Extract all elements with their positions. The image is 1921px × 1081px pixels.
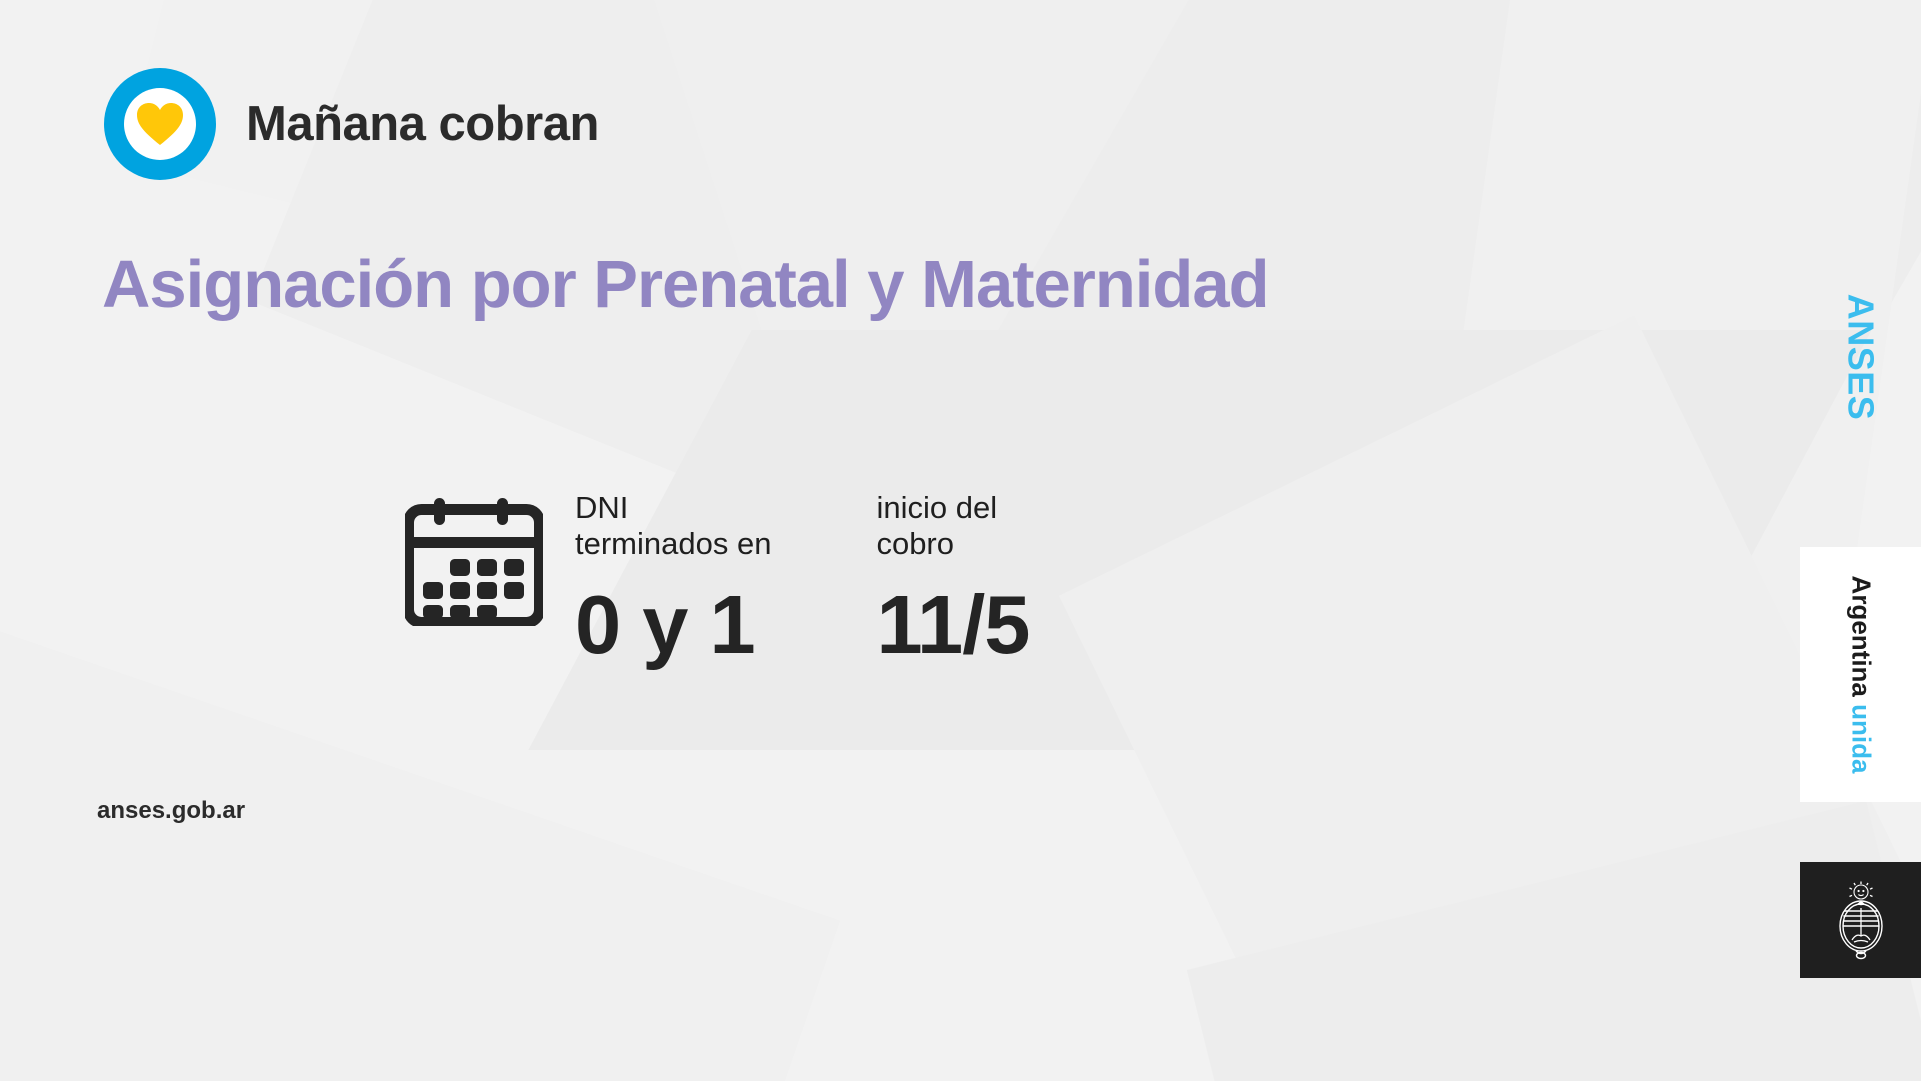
fecha-value: 11/5 [876,582,1029,668]
heart-icon [136,102,184,146]
bg-facet [906,0,1921,870]
heart-in-circle-icon [104,68,216,180]
bg-facet [1059,315,1921,1081]
info-column-dni: DNI terminados en 0 y 1 [575,490,771,668]
dni-label: DNI terminados en [575,490,771,562]
calendar-icon-wrap [405,490,575,631]
anses-wordmark-label: ANSES [1840,294,1882,421]
argentina-unida-label: Argentina unida [1845,576,1876,774]
anses-wordmark: ANSES [1800,262,1921,452]
right-rail: ANSES Argentina unida [1800,0,1921,1081]
slogan-prefix: Argentina [1846,576,1876,705]
website-url[interactable]: anses.gob.ar [97,797,245,825]
poster-canvas: Mañana cobran Asignación por Prenatal y … [0,0,1921,1081]
argentina-coat-of-arms-icon [1830,878,1892,962]
brand-row: Mañana cobran [104,68,599,180]
calendar-icon [405,498,543,626]
brand-kicker: Mañana cobran [246,96,599,152]
dni-value: 0 y 1 [575,582,771,668]
page-title: Asignación por Prenatal y Maternidad [102,246,1269,323]
payment-info-block: DNI terminados en 0 y 1 inicio del cobro… [405,490,1029,668]
info-column-fecha: inicio del cobro 11/5 [876,490,1029,668]
bg-facet [0,628,840,1081]
logo-inner-disc [124,88,196,160]
slogan-highlight: unida [1846,704,1876,773]
fecha-label: inicio del cobro [876,490,1029,562]
info-columns: DNI terminados en 0 y 1 inicio del cobro… [575,490,1029,668]
argentina-coat-of-arms-block [1800,862,1921,978]
argentina-unida-block: Argentina unida [1800,547,1921,802]
